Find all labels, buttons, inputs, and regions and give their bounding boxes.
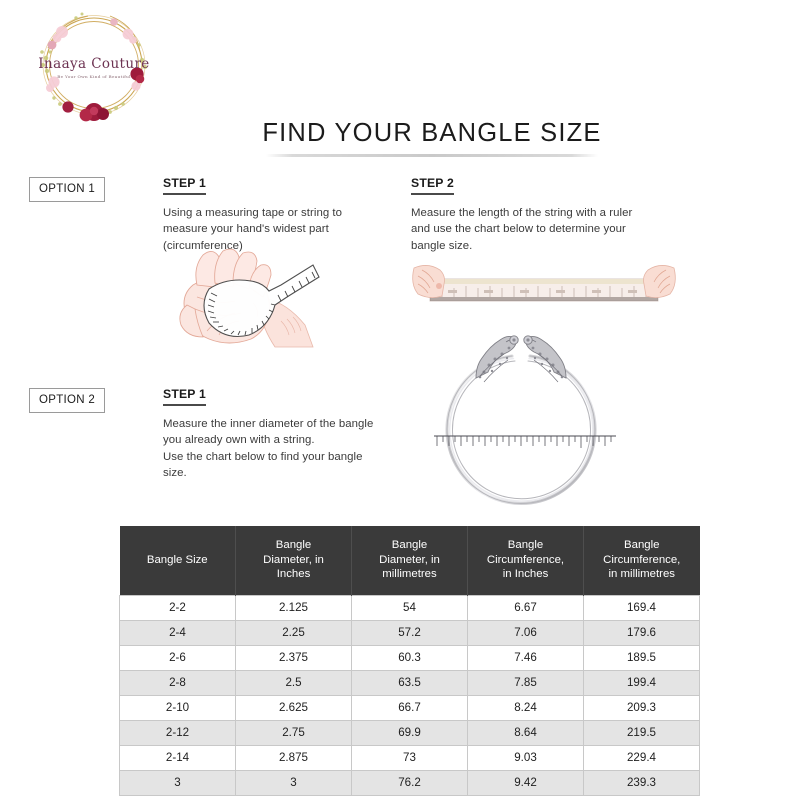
logo-tagline: Be Your Own Kind of Beautiful [57, 74, 131, 79]
cell-diameter-mm: 66.7 [352, 695, 468, 720]
bangle-with-ruler-illustration [420, 332, 620, 514]
hands-holding-ruler-illustration [408, 252, 680, 318]
table-row: 2-2 2.125 54 6.67 169.4 [120, 595, 700, 620]
step-heading: STEP 1 [163, 387, 206, 406]
header-line: Diameter, in [263, 554, 324, 566]
cell-bangle-size: 2-4 [120, 620, 236, 645]
header-line: Diameter, in [379, 554, 440, 566]
cell-bangle-size: 2-12 [120, 720, 236, 745]
cell-diameter-inches: 2.375 [236, 645, 352, 670]
cell-diameter-inches: 3 [236, 770, 352, 795]
cell-circumference-mm: 169.4 [584, 595, 700, 620]
cell-circumference-mm: 219.5 [584, 720, 700, 745]
cell-diameter-mm: 69.9 [352, 720, 468, 745]
cell-circumference-mm: 239.3 [584, 770, 700, 795]
step-description: Measure the inner diameter of the bangle… [163, 416, 413, 482]
step-line: Using a measuring tape or string to [163, 205, 378, 221]
header-line: Circumference, [487, 554, 564, 566]
step-line: measure your hand's widest part [163, 221, 378, 237]
table-body: 2-2 2.125 54 6.67 169.4 2-4 2.25 57.2 7.… [120, 595, 700, 795]
step-line: you already own with a string. [163, 432, 413, 448]
header-line: Inches [277, 568, 311, 580]
cell-diameter-inches: 2.125 [236, 595, 352, 620]
header-line: millimetres [382, 568, 436, 580]
step-line: Measure the inner diameter of the bangle [163, 416, 413, 432]
step-heading: STEP 2 [411, 176, 454, 195]
page-header: FIND YOUR BANGLE SIZE [197, 118, 667, 157]
column-header-diameter-mm: Bangle Diameter, in millimetres [352, 526, 468, 595]
option-2-step-1: STEP 1 Measure the inner diameter of the… [163, 385, 413, 482]
cell-circumference-inches: 9.42 [468, 770, 584, 795]
column-header-bangle-size: Bangle Size [120, 526, 236, 595]
option-1-step-2: STEP 2 Measure the length of the string … [411, 174, 671, 254]
cell-circumference-inches: 9.03 [468, 745, 584, 770]
cell-diameter-mm: 76.2 [352, 770, 468, 795]
cell-diameter-inches: 2.5 [236, 670, 352, 695]
cell-circumference-inches: 8.64 [468, 720, 584, 745]
table-header-row: Bangle Size Bangle Diameter, in Inches B… [120, 526, 700, 595]
cell-bangle-size: 2-10 [120, 695, 236, 720]
cell-bangle-size: 2-6 [120, 645, 236, 670]
cell-diameter-inches: 2.625 [236, 695, 352, 720]
header-line: Bangle [508, 539, 543, 551]
logo-brand-name: Inaaya Couture [38, 56, 149, 72]
table-row: 2-8 2.5 63.5 7.85 199.4 [120, 670, 700, 695]
step-line: and use the chart below to determine you… [411, 221, 671, 237]
column-header-diameter-inches: Bangle Diameter, in Inches [236, 526, 352, 595]
table-row: 2-12 2.75 69.9 8.64 219.5 [120, 720, 700, 745]
page-title: FIND YOUR BANGLE SIZE [197, 118, 667, 148]
option-2-badge: OPTION 2 [29, 388, 105, 413]
step-line: Use the chart below to find your bangle [163, 449, 413, 465]
table-row: 2-14 2.875 73 9.03 229.4 [120, 745, 700, 770]
cell-circumference-mm: 229.4 [584, 745, 700, 770]
step-line: size. [163, 465, 413, 481]
header-line: Circumference, [603, 554, 680, 566]
cell-circumference-inches: 6.67 [468, 595, 584, 620]
bangle-size-chart: Bangle Size Bangle Diameter, in Inches B… [119, 526, 700, 796]
cell-circumference-inches: 8.24 [468, 695, 584, 720]
logo-wreath-icon: Inaaya Couture Be Your Own Kind of Beaut… [24, 8, 164, 123]
cell-circumference-mm: 179.6 [584, 620, 700, 645]
step-line: Measure the length of the string with a … [411, 205, 671, 221]
header-line: Bangle [624, 539, 659, 551]
cell-bangle-size: 3 [120, 770, 236, 795]
step-description: Measure the length of the string with a … [411, 205, 671, 254]
header-line: Bangle Size [147, 554, 208, 566]
header-line: in Inches [503, 568, 549, 580]
header-line: in millimetres [609, 568, 675, 580]
cell-bangle-size: 2-8 [120, 670, 236, 695]
size-table: Bangle Size Bangle Diameter, in Inches B… [119, 526, 700, 796]
table-row: 3 3 76.2 9.42 239.3 [120, 770, 700, 795]
cell-diameter-mm: 57.2 [352, 620, 468, 645]
table-row: 2-6 2.375 60.3 7.46 189.5 [120, 645, 700, 670]
cell-diameter-mm: 60.3 [352, 645, 468, 670]
cell-circumference-mm: 209.3 [584, 695, 700, 720]
cell-diameter-mm: 54 [352, 595, 468, 620]
cell-diameter-inches: 2.75 [236, 720, 352, 745]
option-1-badge: OPTION 1 [29, 177, 105, 202]
cell-circumference-inches: 7.06 [468, 620, 584, 645]
brand-logo: Inaaya Couture Be Your Own Kind of Beaut… [24, 8, 164, 123]
step-heading: STEP 1 [163, 176, 206, 195]
cell-bangle-size: 2-2 [120, 595, 236, 620]
cell-diameter-inches: 2.875 [236, 745, 352, 770]
hand-with-measuring-tape-illustration [163, 243, 363, 373]
header-line: Bangle [276, 539, 311, 551]
cell-circumference-inches: 7.46 [468, 645, 584, 670]
cell-circumference-inches: 7.85 [468, 670, 584, 695]
cell-diameter-mm: 73 [352, 745, 468, 770]
cell-diameter-mm: 63.5 [352, 670, 468, 695]
cell-bangle-size: 2-14 [120, 745, 236, 770]
cell-circumference-mm: 199.4 [584, 670, 700, 695]
table-row: 2-10 2.625 66.7 8.24 209.3 [120, 695, 700, 720]
header-line: Bangle [392, 539, 427, 551]
column-header-circumference-inches: Bangle Circumference, in Inches [468, 526, 584, 595]
column-header-circumference-mm: Bangle Circumference, in millimetres [584, 526, 700, 595]
title-divider [266, 154, 598, 157]
cell-diameter-inches: 2.25 [236, 620, 352, 645]
table-row: 2-4 2.25 57.2 7.06 179.6 [120, 620, 700, 645]
cell-circumference-mm: 189.5 [584, 645, 700, 670]
